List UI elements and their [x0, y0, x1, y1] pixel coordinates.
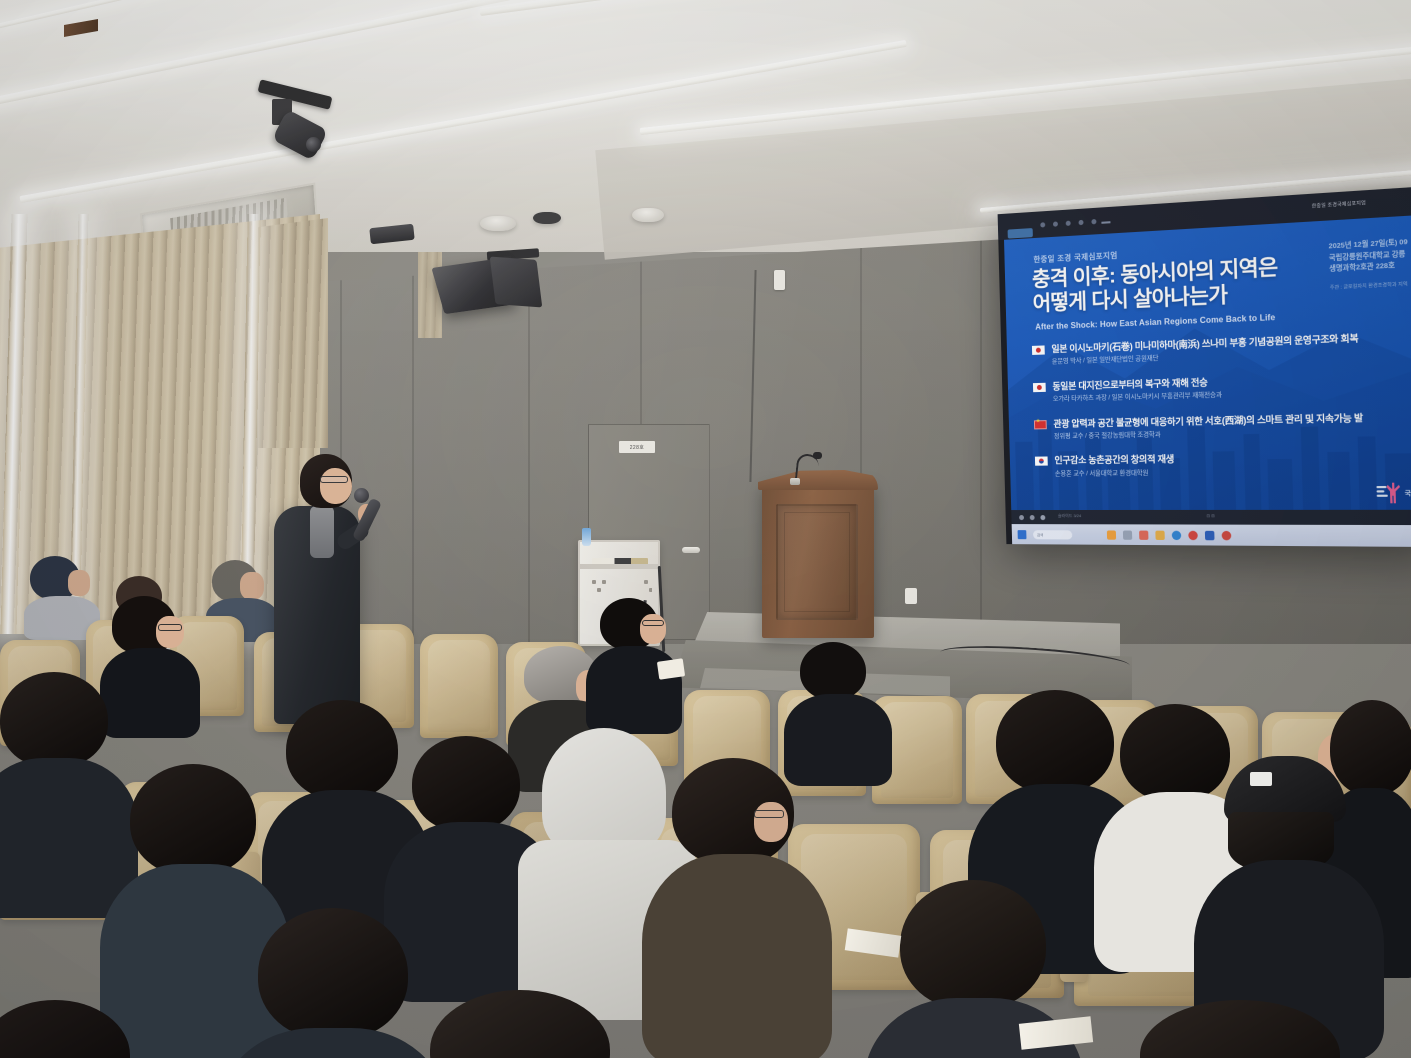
ppt-toolbar-icon[interactable] [1091, 219, 1096, 224]
windows-taskbar[interactable]: 검색 [1012, 524, 1411, 547]
ppt-toolbar-icon[interactable] [1066, 221, 1071, 226]
ceiling-sensor-icon [533, 212, 561, 224]
view-mode-icons[interactable]: ⊡ ⊟ [1206, 513, 1214, 518]
auditorium-photo: 228호 한중일 조경국제심포지엄 [0, 0, 1411, 1058]
ceiling-speaker-dome-icon [480, 216, 516, 231]
japan-flag-icon [1032, 345, 1045, 355]
ppt-app-badge [1008, 228, 1033, 239]
taskbar-app-icons[interactable] [1107, 530, 1231, 540]
search-placeholder: 검색 [1037, 532, 1043, 537]
slide-event-details: 2025년 12월 27일(토) 09 국립강릉원주대학교 강릉 생명과학2호관… [1329, 238, 1409, 292]
speaker-shirt [310, 506, 334, 558]
china-flag-icon [1034, 420, 1047, 429]
glasses-icon [320, 476, 348, 483]
spotlight-lens [306, 137, 321, 152]
wall-outlet [905, 588, 917, 604]
session-list: 일본 이시노마키(石巻) 미나미하마(南浜) 쓰나미 부흥 기념공원의 운영구조… [1032, 331, 1411, 493]
taskbar-word-icon[interactable] [1205, 530, 1215, 539]
presentation-status-bar[interactable]: 슬라이드 3/24 ⊡ ⊟ [1011, 510, 1411, 525]
door-handle[interactable] [682, 547, 700, 553]
ppt-toolbar-icons[interactable] [1040, 219, 1096, 228]
cap-logo-icon [1250, 772, 1272, 786]
taskbar-app-icon[interactable] [1188, 530, 1198, 539]
hoodie-hood [542, 728, 666, 856]
search-input[interactable]: 검색 [1033, 530, 1072, 539]
speaker-podium [762, 482, 874, 638]
logo-label: 국립 [1405, 487, 1411, 497]
taskbar-app-icon[interactable] [1222, 530, 1232, 539]
microphone-head-icon [813, 452, 822, 459]
presentation-slide: 한중일 조경 국제심포지엄 충격 이후: 동아시아의 지역은 어떻게 다시 살아… [1004, 215, 1411, 510]
microphone-base [790, 478, 800, 485]
ppt-window-title: 한중일 조경국제심포지엄 [1312, 200, 1366, 210]
podium-front-panel [776, 504, 858, 620]
projection-screen: 한중일 조경국제심포지엄 [998, 186, 1411, 547]
taskbar-app-icon[interactable] [1139, 530, 1148, 539]
logo-figure-icon [1386, 482, 1400, 504]
session-speaker: 손용훈 교수 / 서울대학교 환경대학원 [1055, 465, 1411, 478]
slide-status-label: 슬라이드 3/24 [1058, 513, 1081, 519]
korea-flag-icon [1035, 457, 1048, 466]
taskbar-app-icon[interactable] [1123, 530, 1132, 539]
wood-slat-wall-right [258, 218, 328, 448]
handout-paper [657, 658, 685, 679]
water-bottle [582, 528, 591, 546]
ppt-toolbar-icon[interactable] [1078, 220, 1083, 225]
status-icon[interactable] [1019, 515, 1024, 520]
taskbar-app-icon[interactable] [1155, 530, 1164, 539]
taskbar-app-icon[interactable] [1107, 530, 1116, 539]
start-button-icon[interactable] [1018, 530, 1027, 539]
list-item: 인구감소 농촌공간의 창의적 재생 손용훈 교수 / 서울대학교 환경대학원 [1035, 451, 1411, 477]
status-icon[interactable] [1040, 515, 1045, 520]
taskbar-browser-icon[interactable] [1172, 530, 1182, 539]
logo-mark-icon [1376, 482, 1401, 504]
door-room-sign: 228호 [619, 441, 655, 453]
light-switch[interactable] [774, 270, 785, 290]
speaker-face [320, 468, 352, 504]
list-item: 동일본 대지진으로부터의 복구와 재해 전승 오가라 타카하츠 과장 / 일본 … [1033, 371, 1411, 403]
wall-panel-seam [412, 214, 414, 644]
cart-shelf [580, 564, 658, 569]
minimize-icon[interactable] [1101, 221, 1110, 224]
ppt-toolbar-icon[interactable] [1053, 221, 1058, 226]
handheld-microphone-icon [354, 488, 369, 503]
japan-flag-icon [1033, 383, 1046, 392]
ppt-toolbar-icon[interactable] [1040, 222, 1045, 227]
glasses-icon [754, 810, 784, 818]
ceiling-speaker-dome-icon [632, 208, 664, 222]
wall-panel-seam [980, 214, 982, 644]
glasses-icon [642, 620, 664, 626]
glasses-icon [158, 624, 182, 631]
pa-speaker-side [490, 257, 543, 308]
door-sign-label: 228호 [630, 444, 645, 451]
auditorium-seat[interactable] [420, 634, 498, 738]
status-icon[interactable] [1030, 515, 1035, 520]
list-item: 관광 압력과 공간 불균형에 대응하기 위한 서호(西湖)의 스마트 관리 및 … [1034, 411, 1411, 440]
organization-logo: 국립 [1376, 481, 1411, 503]
